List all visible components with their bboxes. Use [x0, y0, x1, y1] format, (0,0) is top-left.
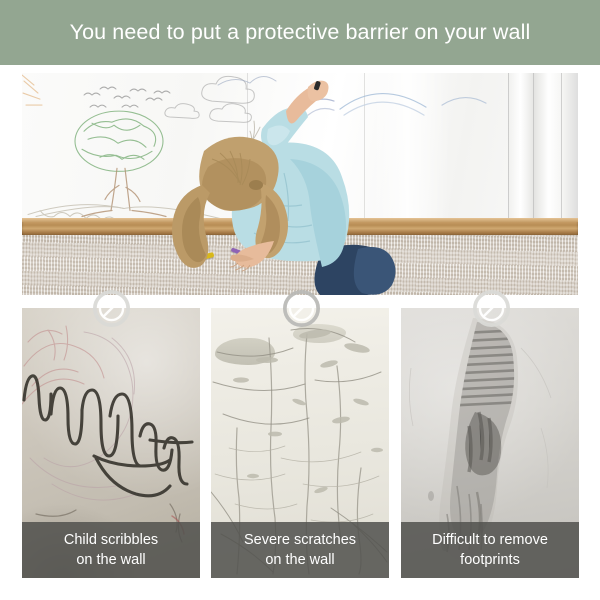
panel-caption: Difficult to remove footprints — [401, 522, 579, 578]
caption-line-1: Severe scratches — [244, 530, 356, 550]
panel-severe-scratches: Severe scratches on the wall — [211, 308, 389, 578]
prohibition-icon — [283, 290, 320, 327]
caption-line-2: on the wall — [265, 550, 334, 570]
prohibition-icon — [473, 290, 510, 327]
caption-line-2: footprints — [460, 550, 520, 570]
caption-line-1: Child scribbles — [64, 530, 158, 550]
promotional-image: You need to put a protective barrier on … — [0, 0, 600, 600]
panel-difficult-footprints: Difficult to remove footprints — [401, 308, 579, 578]
hero-photo — [22, 73, 578, 295]
girl-figure — [22, 73, 578, 295]
panel-child-scribbles: Child scribbles on the wall — [22, 308, 200, 578]
panel-caption: Severe scratches on the wall — [211, 522, 389, 578]
page-title: You need to put a protective barrier on … — [70, 20, 531, 45]
panel-caption: Child scribbles on the wall — [22, 522, 200, 578]
prohibition-icon — [93, 290, 130, 327]
jeans-highlight — [354, 247, 396, 295]
hair-tie — [249, 180, 263, 190]
header-banner: You need to put a protective barrier on … — [0, 0, 600, 65]
caption-line-2: on the wall — [76, 550, 145, 570]
caption-line-1: Difficult to remove — [432, 530, 548, 550]
